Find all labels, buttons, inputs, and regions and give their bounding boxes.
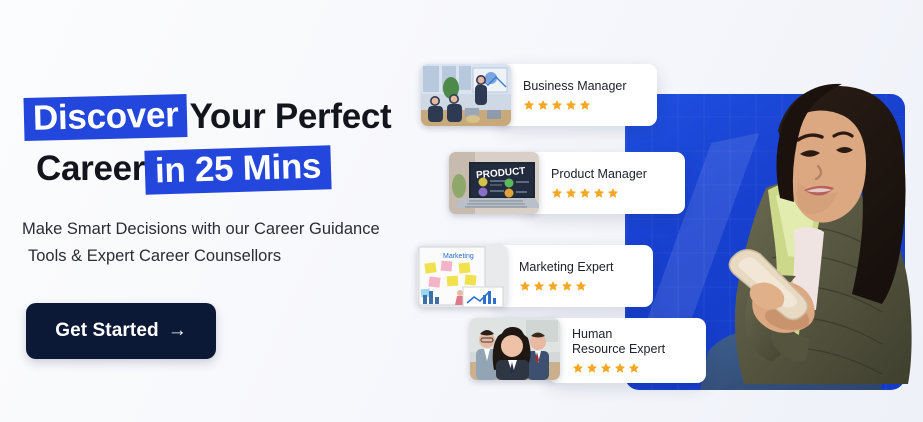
star-icon	[614, 362, 626, 374]
role-title: Product Manager	[551, 167, 669, 182]
star-icon	[523, 99, 535, 111]
star-icon	[579, 187, 591, 199]
rating-stars	[523, 99, 641, 111]
role-card-panel: Human Resource Expert	[548, 318, 706, 383]
headline-highlight-in-25-mins: in 25 Mins	[145, 145, 332, 195]
subcopy-line-2: Tools & Expert Career Counsellors	[22, 243, 462, 270]
star-icon	[600, 362, 612, 374]
headline-line-2: Careerin 25 Mins	[36, 148, 333, 192]
hr-team-thumbnail	[470, 318, 560, 380]
star-icon	[551, 99, 563, 111]
role-title: Human Resource Expert	[572, 327, 668, 358]
role-title: Business Manager	[523, 79, 641, 94]
hero-copy-block: DiscoverYour Perfect Careerin 25 Mins Ma…	[0, 0, 470, 422]
rating-stars	[519, 280, 637, 292]
marketing-whiteboard-thumbnail: Marketing	[417, 245, 507, 307]
star-icon	[561, 280, 573, 292]
star-icon	[575, 280, 587, 292]
star-icon	[565, 187, 577, 199]
headline-highlight-discover: Discover	[23, 94, 187, 141]
headline-plain-your-perfect: Your Perfect	[189, 99, 391, 134]
role-card-human-resource-expert[interactable]: Human Resource Expert	[470, 318, 706, 383]
star-icon	[551, 187, 563, 199]
role-card-business-manager[interactable]: Business Manager	[421, 64, 657, 126]
get-started-button[interactable]: Get Started →	[26, 303, 216, 359]
star-icon	[519, 280, 531, 292]
star-icon	[579, 99, 591, 111]
subcopy-line-1: Make Smart Decisions with our Career Gui…	[22, 220, 380, 238]
arrow-right-icon: →	[168, 321, 187, 340]
role-card-marketing-expert[interactable]: Marketing Marketing Expert	[417, 245, 653, 307]
hero-subcopy: Make Smart Decisions with our Career Gui…	[22, 216, 462, 269]
headline-line-1: DiscoverYour Perfect	[24, 96, 391, 139]
business-meeting-thumbnail	[421, 64, 511, 126]
role-card-panel: Business Manager	[499, 64, 657, 126]
star-icon	[537, 99, 549, 111]
role-card-panel: Marketing Expert	[495, 245, 653, 307]
svg-text:Marketing: Marketing	[443, 253, 474, 260]
career-hero-banner: DiscoverYour Perfect Careerin 25 Mins Ma…	[0, 0, 923, 422]
rating-stars	[572, 362, 690, 374]
headline-plain-career: Career	[36, 151, 145, 186]
star-icon	[628, 362, 640, 374]
role-title: Marketing Expert	[519, 260, 637, 275]
role-card-panel: Product Manager	[527, 152, 685, 214]
star-icon	[607, 187, 619, 199]
role-card-product-manager[interactable]: PRODUCT Product Manager	[449, 152, 685, 214]
star-icon	[593, 187, 605, 199]
product-laptop-thumbnail: PRODUCT	[449, 152, 539, 214]
star-icon	[586, 362, 598, 374]
star-icon	[533, 280, 545, 292]
star-icon	[547, 280, 559, 292]
get-started-label: Get Started	[55, 320, 159, 342]
star-icon	[565, 99, 577, 111]
star-icon	[572, 362, 584, 374]
rating-stars	[551, 187, 669, 199]
